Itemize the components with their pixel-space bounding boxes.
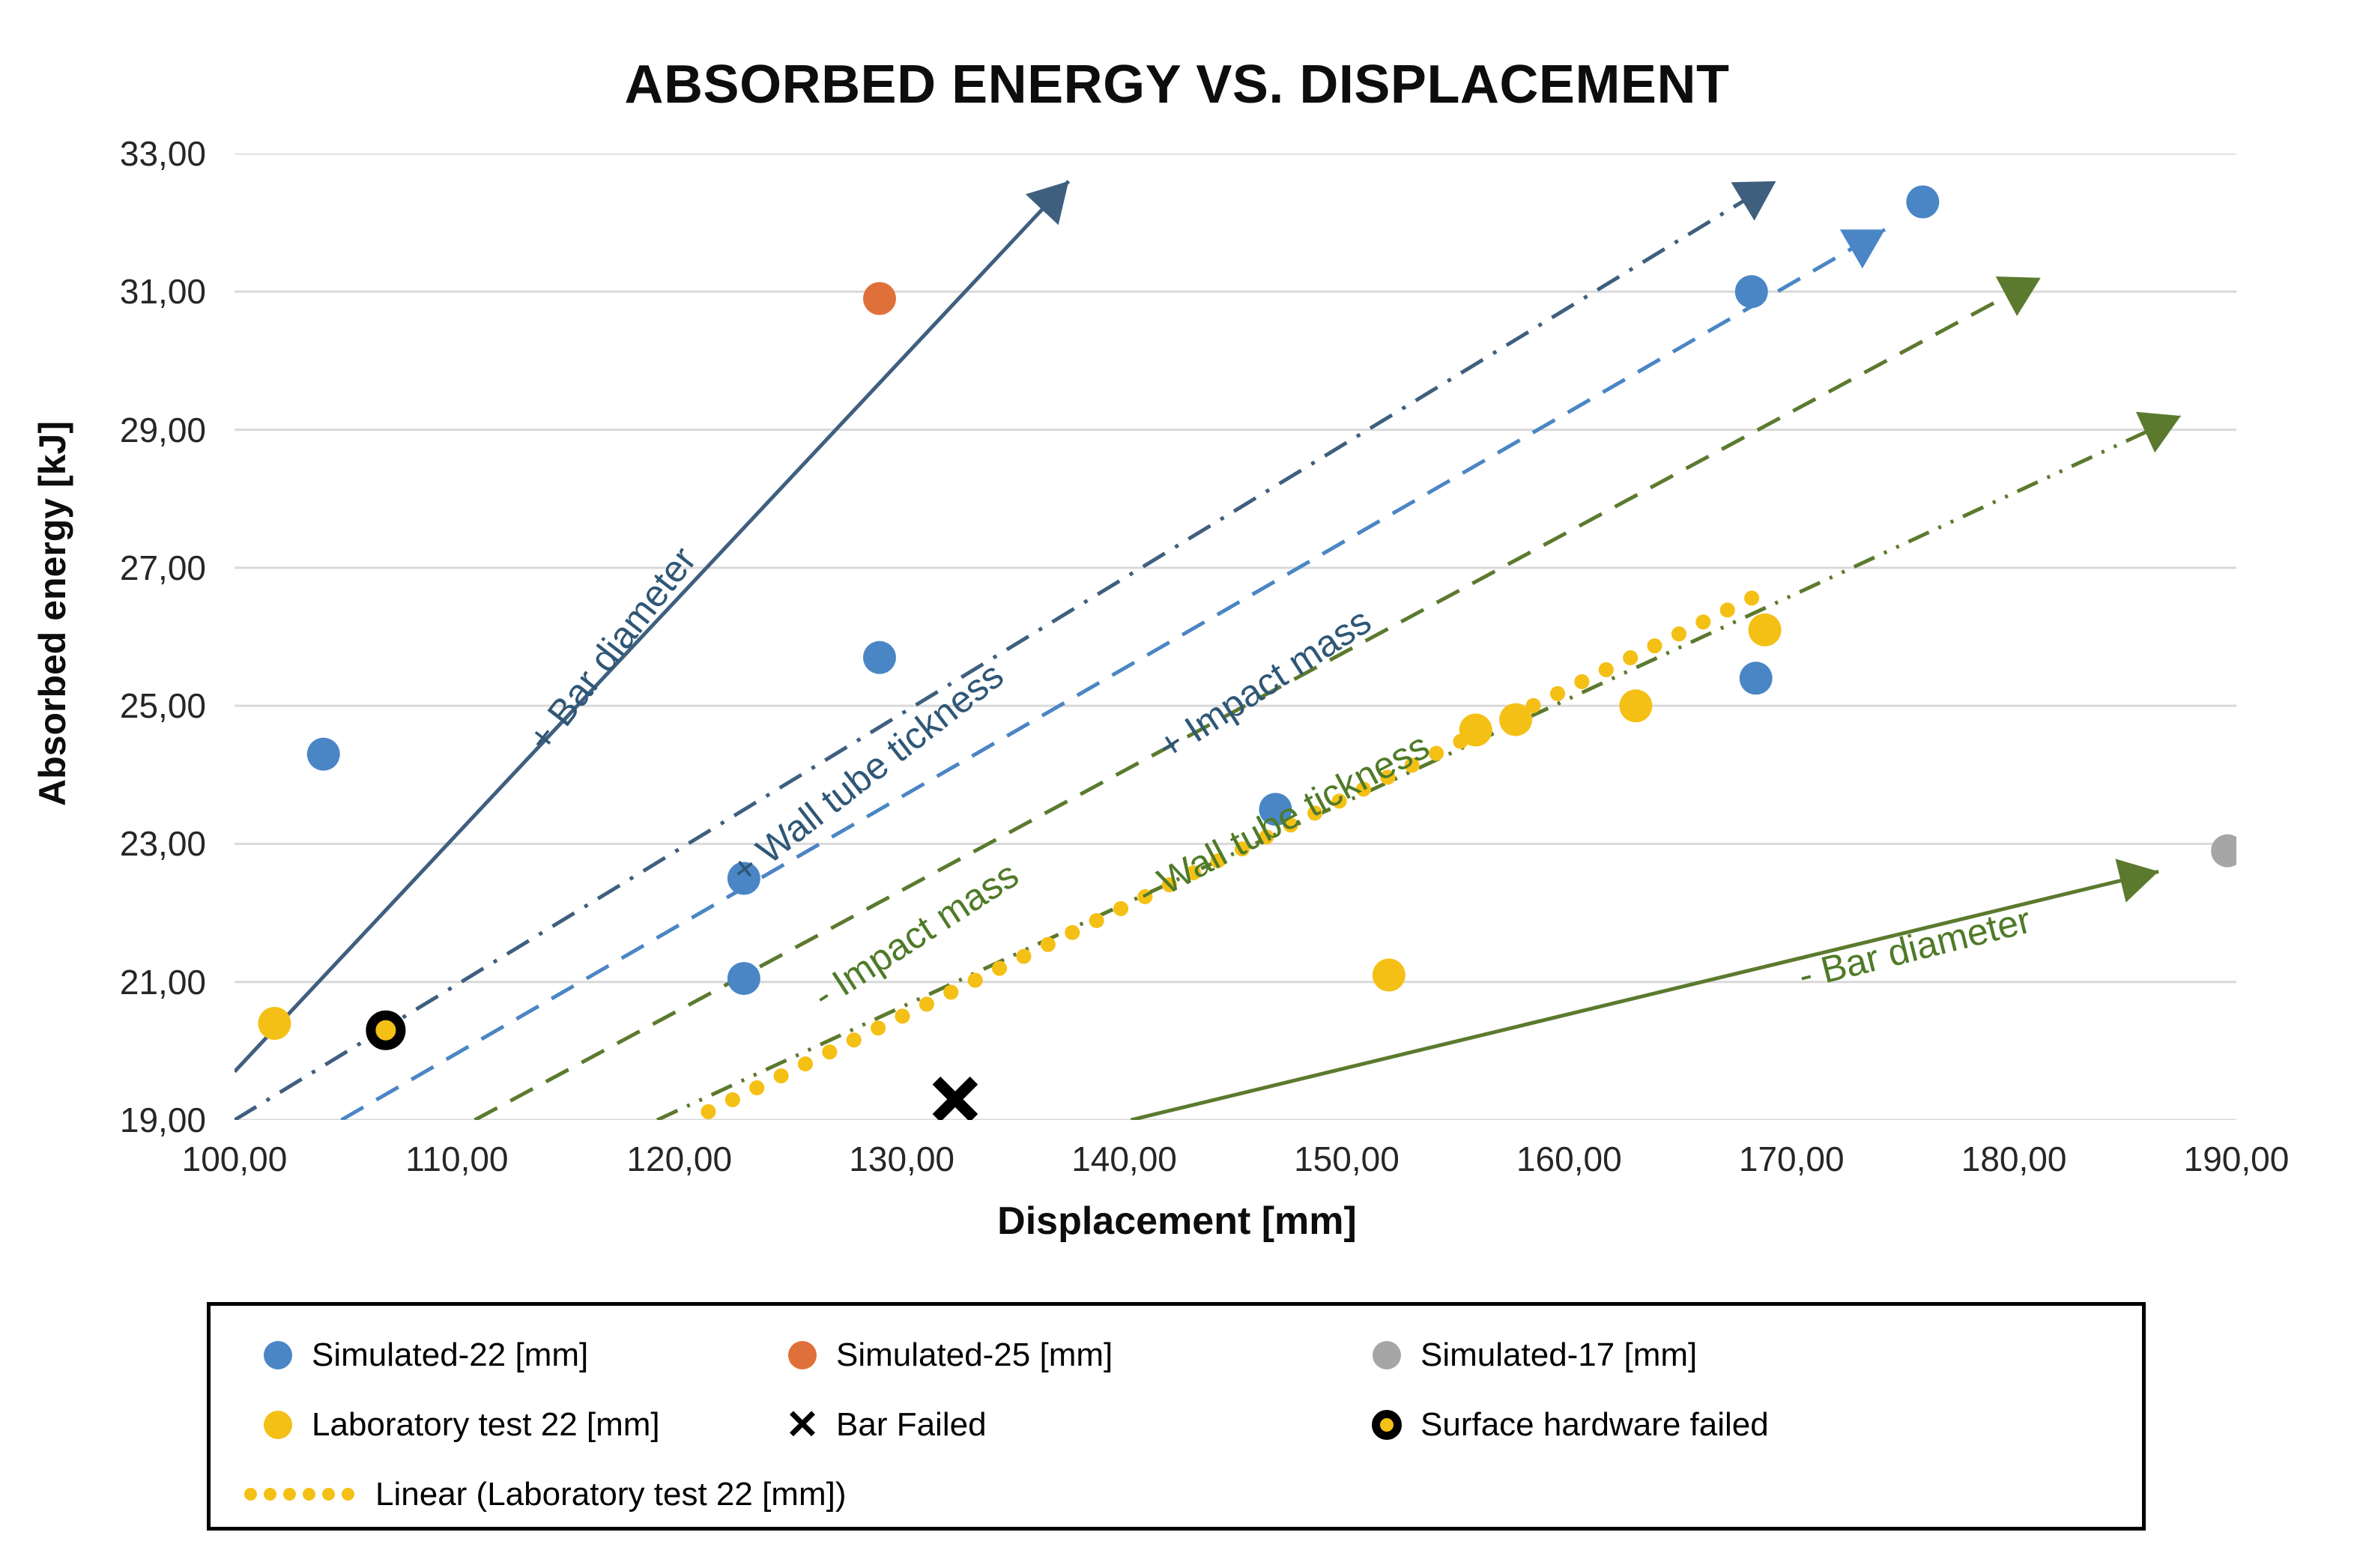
legend-swatch-dot [244,1411,312,1439]
trendline-arrowhead [1996,276,2041,316]
legend-swatch-line [244,1488,375,1501]
data-point [863,641,896,674]
x-axis-title: Displacement [mm] [0,1199,2354,1244]
legend-item-label: Surface hardware failed [1420,1406,1769,1444]
y-tick-label: 23,00 [11,823,206,864]
plot-area: + Bar diameter+ Wall tube tickness+ Impa… [235,154,2236,1120]
x-tick-label: 190,00 [2124,1139,2349,1179]
legend-swatch-ring [1353,1410,1420,1440]
data-point [1749,614,1782,647]
x-tick-label: 180,00 [1901,1139,2126,1179]
x-tick-label: 100,00 [122,1139,347,1179]
x-tick-label: 120,00 [567,1139,792,1179]
chart-title: ABSORBED ENERGY VS. DISPLACEMENT [0,54,2354,115]
bar-failed-marker [937,1080,974,1118]
trendline-arrowhead [1840,229,1885,268]
y-tick-label: 31,00 [11,271,206,312]
legend-x-icon: ✕ [785,1405,819,1445]
legend-dot-icon [1373,1341,1401,1369]
x-tick-label: 110,00 [345,1139,569,1179]
legend-swatch-dot [1353,1341,1420,1369]
data-point [2211,835,2236,868]
plot-svg: + Bar diameter+ Wall tube tickness+ Impa… [235,154,2236,1120]
trendline-arrowhead [2115,859,2158,902]
x-axis-tick-labels: 100,00110,00120,00130,00140,00150,00160,… [0,1139,2354,1199]
data-point [1906,186,1939,219]
legend-item-label: Linear (Laboratory test 22 [mm]) [375,1476,846,1513]
data-point [1373,959,1406,992]
legend-item-label: Simulated-25 [mm] [836,1337,1113,1374]
legend-row: Simulated-22 [mm]Simulated-25 [mm]Simula… [211,1319,2142,1390]
legend-item-label: Bar Failed [836,1406,987,1444]
x-tick-label: 130,00 [790,1139,1014,1179]
data-point [1740,662,1773,694]
x-tick-label: 150,00 [1234,1139,1459,1179]
chart-container: ABSORBED ENERGY VS. DISPLACEMENT Absorbe… [0,0,2354,1568]
legend-item[interactable]: Linear (Laboratory test 22 [mm]) [244,1459,846,1530]
y-tick-label: 19,00 [11,1100,206,1140]
x-tick-label: 160,00 [1456,1139,1681,1179]
legend-ring-icon [1372,1410,1402,1440]
trendline [235,181,1776,1120]
legend-row: Linear (Laboratory test 22 [mm]) [211,1459,2142,1530]
legend-item[interactable]: Simulated-25 [mm] [769,1319,1113,1390]
chart-legend: Simulated-22 [mm]Simulated-25 [mm]Simula… [207,1302,2146,1531]
legend-dot-icon [788,1341,817,1369]
trendline-arrowhead [1731,181,1776,221]
y-tick-label: 25,00 [11,685,206,726]
data-point [1735,275,1768,308]
y-tick-label: 21,00 [11,962,206,1002]
x-tick-label: 170,00 [1679,1139,1904,1179]
legend-swatch-x: ✕ [769,1405,836,1445]
data-point [307,738,340,771]
legend-dot-icon [264,1411,292,1439]
data-point [1459,713,1492,746]
data-point [258,1007,291,1040]
y-tick-label: 27,00 [11,548,206,588]
y-axis-tick-labels: 19,0021,0023,0025,0027,0029,0031,0033,00 [0,154,206,1120]
data-point [727,962,760,995]
y-tick-label: 29,00 [11,410,206,450]
trendline-annotation: + Bar diameter [519,539,704,759]
legend-item[interactable]: ✕Bar Failed [769,1389,987,1460]
legend-item-label: Simulated-22 [mm] [312,1337,588,1374]
data-point [863,282,896,315]
y-tick-label: 33,00 [11,133,206,174]
legend-item[interactable]: Surface hardware failed [1353,1389,1769,1460]
trendline-annotation: + Wall tube tickness [723,654,1011,892]
legend-dotted-line-icon [244,1488,354,1501]
data-point [1619,689,1652,722]
legend-swatch-dot [244,1341,312,1369]
data-point [1499,703,1532,736]
trendline [1131,859,2158,1120]
legend-item[interactable]: Laboratory test 22 [mm] [244,1389,660,1460]
trendline-annotation: - Impact mass [805,853,1026,1017]
legend-item-label: Laboratory test 22 [mm] [312,1406,660,1444]
legend-dot-icon [264,1341,292,1369]
x-tick-label: 140,00 [1012,1139,1237,1179]
legend-row: Laboratory test 22 [mm]✕Bar FailedSurfac… [211,1389,2142,1460]
trendline-annotation: + Impact mass [1150,599,1378,768]
legend-item[interactable]: Simulated-17 [mm] [1353,1319,1697,1390]
legend-item[interactable]: Simulated-22 [mm] [244,1319,588,1390]
legend-item-label: Simulated-17 [mm] [1420,1337,1697,1374]
legend-swatch-dot [769,1341,836,1369]
